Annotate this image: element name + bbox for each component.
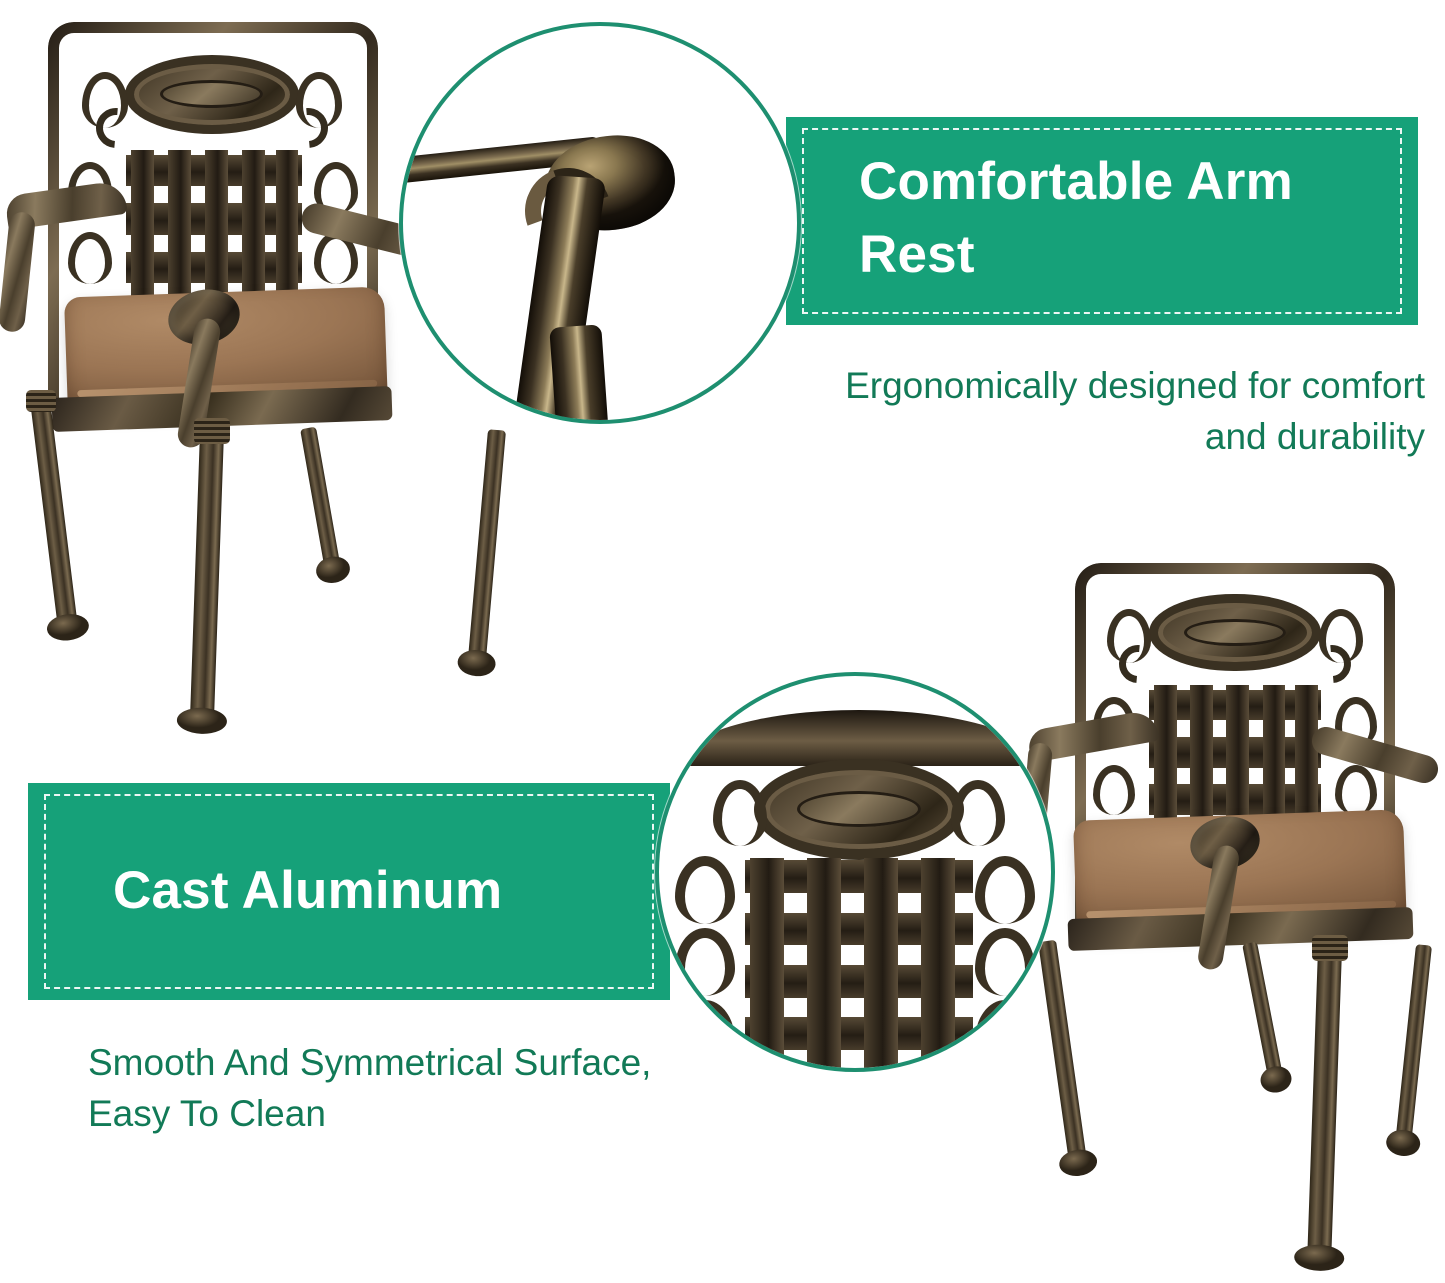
leg-ball-foot <box>1294 1244 1345 1272</box>
leg-ball-foot <box>314 554 352 585</box>
backrest-scrollwork-crown <box>76 38 348 158</box>
chair-leg-rear-right <box>1395 944 1432 1145</box>
closeup-basketweave-lattice <box>745 858 973 1072</box>
banner-title-arm-rest: Comfortable Arm Rest <box>786 145 1418 297</box>
lattice-v-bar <box>921 858 955 1072</box>
closeup-oval-medallion <box>754 759 964 860</box>
chair-leg-rear-middle <box>300 427 341 573</box>
leg-ball-foot <box>1385 1128 1421 1157</box>
closeup-heart-left <box>713 780 767 846</box>
chair-leg-front-left <box>30 399 78 630</box>
lattice-v-bar <box>750 858 784 1072</box>
crown-oval-medallion <box>125 55 299 134</box>
leg-ball-foot <box>457 649 497 678</box>
closeup-side-heart <box>675 1000 735 1068</box>
leg-shaft <box>1395 944 1432 1145</box>
lattice-v-bar <box>807 858 841 1072</box>
closeup-side-heart <box>975 928 1035 996</box>
leg-ball-foot <box>1058 1147 1099 1178</box>
magnifier-circle-armrest <box>399 22 801 424</box>
side-heart-2-left <box>1093 765 1135 815</box>
closeup-side-heart <box>675 928 735 996</box>
magnifier-circle-lattice <box>655 672 1055 1072</box>
feature-caption-arm-rest: Ergonomically designed for comfort and d… <box>785 360 1425 462</box>
leg-shaft <box>1242 942 1283 1082</box>
leg-collar-front-center <box>194 418 230 444</box>
leg-shaft <box>190 432 224 723</box>
lattice-closeup-art <box>659 676 1051 1068</box>
leg-shaft <box>468 429 506 665</box>
leg-collar-front-left <box>26 390 56 412</box>
chair-leg-front-center <box>1307 949 1342 1260</box>
armrest-support-stem-lower <box>549 324 609 424</box>
closeup-side-heart <box>675 856 735 924</box>
leg-ball-foot <box>176 707 227 735</box>
arm-support-left <box>0 211 36 333</box>
closeup-heart-right <box>951 780 1005 846</box>
side-heart-2-right <box>1335 765 1377 815</box>
side-heart-2-left <box>68 232 112 284</box>
crown-oval-medallion <box>1149 594 1321 672</box>
closeup-side-heart <box>975 1000 1035 1068</box>
closeup-side-scroll-left <box>669 852 747 1062</box>
leg-ball-foot <box>45 612 90 643</box>
closeup-side-scroll-right <box>963 852 1041 1062</box>
chair-leg-rear-right <box>468 429 506 665</box>
leg-collar-front-center <box>1312 935 1348 961</box>
leg-shaft <box>300 427 341 573</box>
banner-title-cast-aluminum: Cast Aluminum <box>28 862 502 920</box>
feature-caption-cast-aluminum: Smooth And Symmetrical Surface, Easy To … <box>88 1037 708 1139</box>
backrest-scrollwork-crown <box>1101 577 1369 695</box>
feature-banner-comfortable-arm-rest: Comfortable Arm Rest <box>786 117 1418 325</box>
infographic-canvas: Comfortable Arm Rest Cast Aluminum Ergon… <box>0 0 1445 1283</box>
closeup-side-heart <box>975 856 1035 924</box>
chair-leg-rear-middle <box>1242 942 1283 1082</box>
feature-banner-cast-aluminum: Cast Aluminum <box>28 783 670 1000</box>
chair-leg-front-center <box>190 432 224 723</box>
lattice-v-bar <box>864 858 898 1072</box>
armrest-closeup-art <box>403 26 797 420</box>
leg-shaft <box>30 399 78 630</box>
leg-shaft <box>1307 949 1342 1260</box>
leg-ball-foot <box>1258 1064 1294 1096</box>
